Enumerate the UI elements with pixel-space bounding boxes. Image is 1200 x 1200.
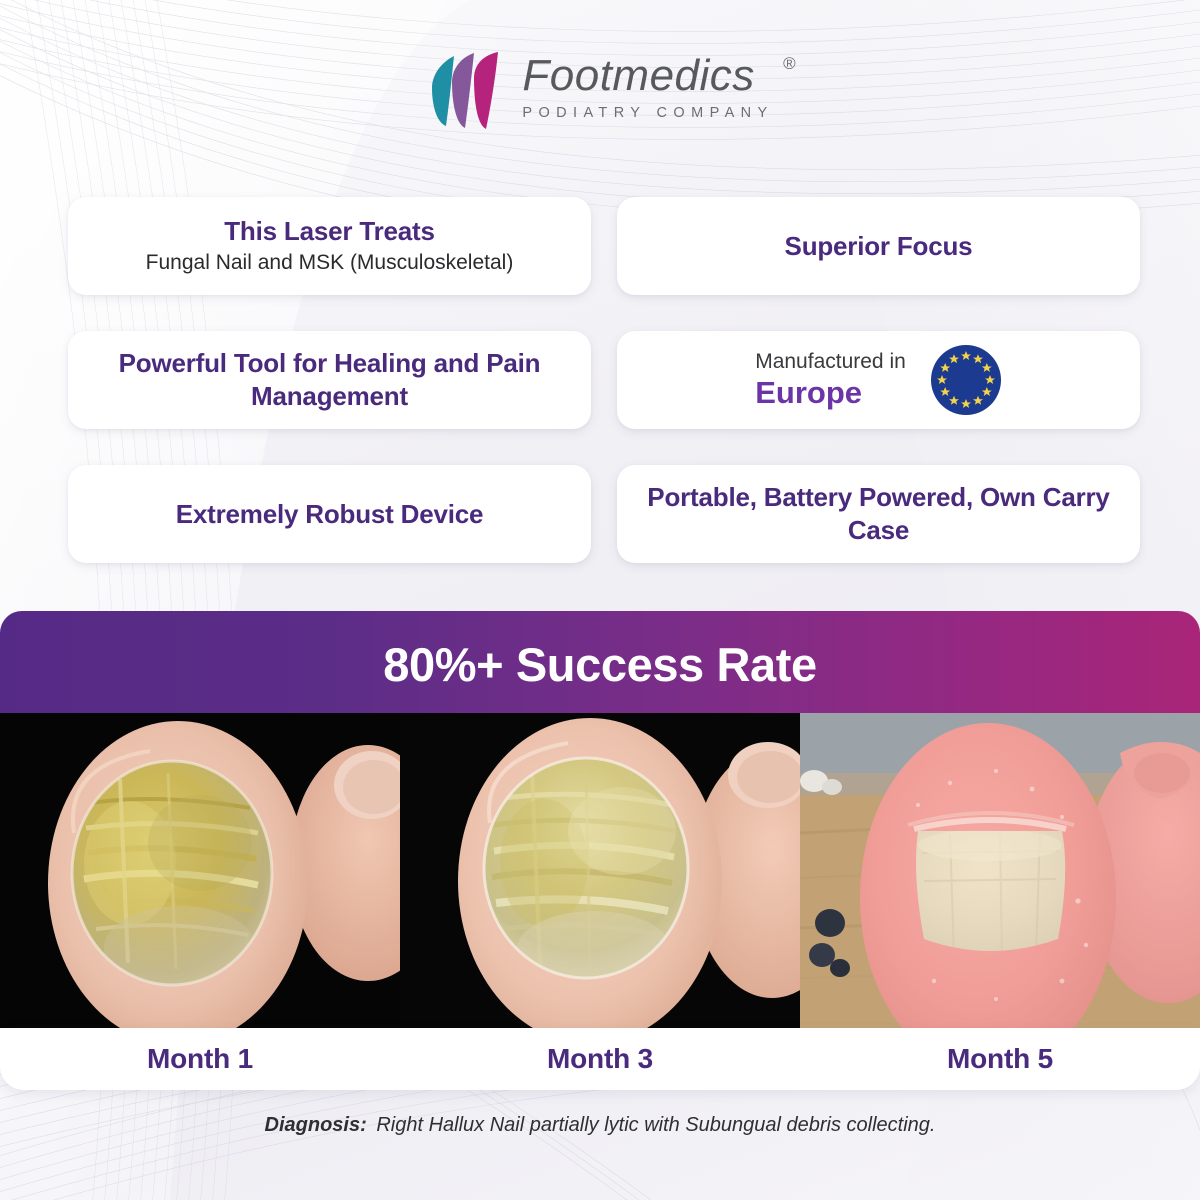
card-title: Superior Focus [785,231,973,262]
feature-card-manufactured-in-europe: Manufactured in Europe [617,331,1140,429]
feature-card-grid: This Laser Treats Fungal Nail and MSK (M… [68,197,1140,563]
brand-logo: Footmedics ® PODIATRY COMPANY [0,52,1200,130]
card-subtitle: Fungal Nail and MSK (Musculoskeletal) [146,250,514,276]
success-rate-banner: 80%+ Success Rate [0,611,1200,717]
brand-tagline: PODIATRY COMPANY [522,105,775,121]
month-label-1: Month 1 [0,1043,400,1075]
feature-card-this-laser-treats: This Laser Treats Fungal Nail and MSK (M… [68,197,591,295]
feature-card-portable-battery-powered: Portable, Battery Powered, Own Carry Cas… [617,465,1140,563]
manufactured-in-label: Manufactured in [755,350,906,374]
feature-card-extremely-robust-device: Extremely Robust Device [68,465,591,563]
card-title: This Laser Treats [146,216,514,247]
month-label-bar: Month 1 Month 3 Month 5 [0,1028,1200,1090]
card-title: Powerful Tool for Healing and Pain Manag… [90,347,569,414]
photo-month-1 [0,713,400,1028]
card-title: Extremely Robust Device [176,499,484,530]
europe-label: Europe [755,376,906,410]
photo-month-5 [800,713,1200,1028]
month-label-3: Month 5 [800,1043,1200,1075]
success-rate-text: 80%+ Success Rate [383,637,816,692]
diagnosis-text: Right Hallux Nail partially lytic with S… [376,1114,935,1136]
diagnosis-caption: Diagnosis: Right Hallux Nail partially l… [0,1112,1200,1138]
registered-trademark-icon: ® [783,54,796,74]
diagnosis-label: Diagnosis: [265,1114,367,1136]
card-title: Portable, Battery Powered, Own Carry Cas… [639,481,1118,548]
european-union-flag-icon [930,344,1002,416]
footmedics-petals-logo-icon [424,52,506,130]
feature-card-superior-focus: Superior Focus [617,197,1140,295]
feature-card-powerful-tool: Powerful Tool for Healing and Pain Manag… [68,331,591,429]
photo-month-3 [400,713,800,1028]
month-label-2: Month 3 [400,1043,800,1075]
before-after-photo-strip [0,713,1200,1028]
infographic-page: Footmedics ® PODIATRY COMPANY This Laser… [0,0,1200,1200]
brand-wordmark: Footmedics [522,54,775,98]
